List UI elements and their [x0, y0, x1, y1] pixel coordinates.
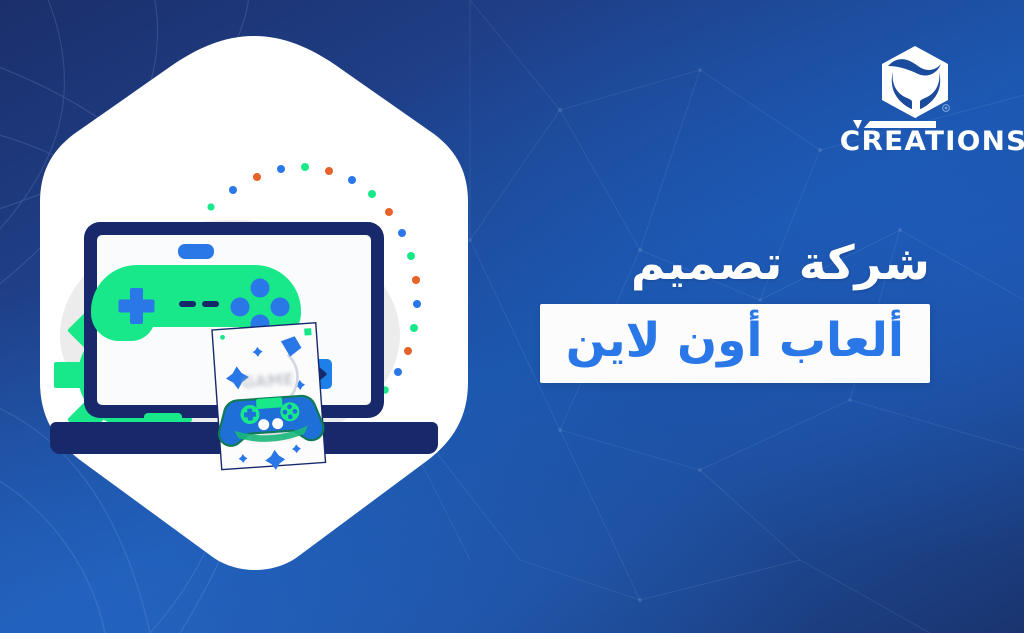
cube-logo-icon — [877, 44, 953, 124]
wordmark-text: CREATIONS — [840, 127, 990, 157]
page-subtitle: ألعاب أون لاين — [566, 313, 904, 369]
subheadline-box: ألعاب أون لاين — [540, 304, 930, 382]
banner-canvas: GAME KING — [0, 0, 1024, 633]
game-card: GAME KING — [212, 323, 326, 474]
page-title: شركة تصميم — [631, 236, 930, 291]
brand-logo[interactable]: CREATIONS — [850, 44, 980, 157]
svg-text:GAME: GAME — [241, 369, 295, 392]
headline-block: شركة تصميم ألعاب أون لاين — [410, 236, 930, 383]
card-title-top: GAME — [241, 369, 295, 392]
card-controller-icon — [217, 395, 325, 447]
brand-wordmark: CREATIONS — [842, 127, 988, 157]
